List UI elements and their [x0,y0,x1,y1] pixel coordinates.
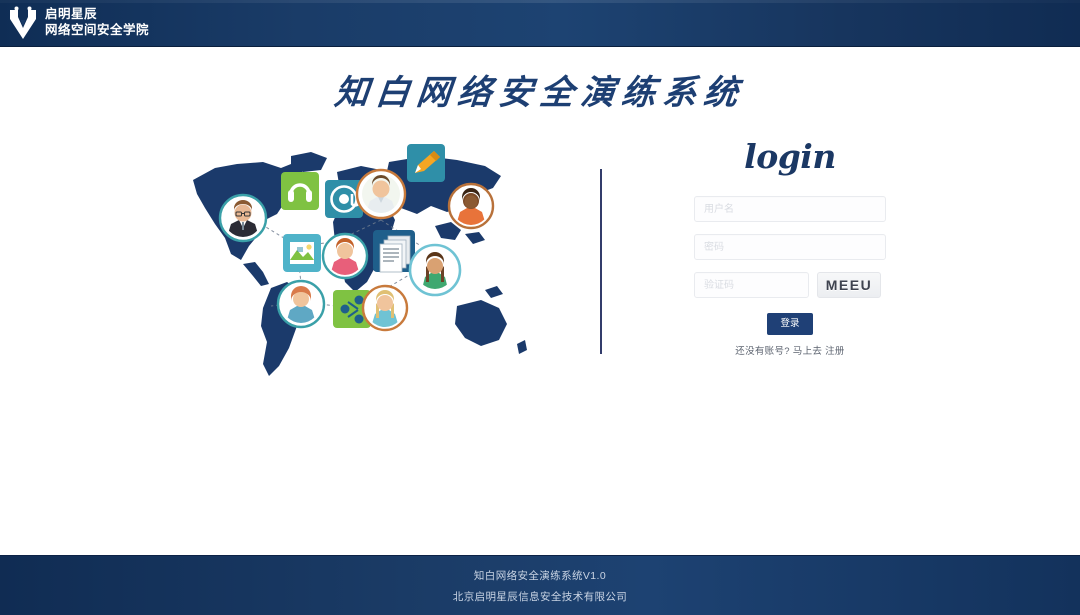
vertical-divider [600,169,602,354]
username-input[interactable] [694,196,886,222]
register-link[interactable]: 还没有账号? 马上去 注册 [660,343,920,357]
app-header: 启明星辰 网络空间安全学院 [0,0,1080,47]
brand-logo[interactable]: 启明星辰 网络空间安全学院 [0,6,149,40]
brand-subtitle: 网络空间安全学院 [45,24,149,38]
photo-image-icon-tile [283,234,321,272]
brand-name: 启明星辰 [45,8,149,22]
documents-icon-tile [373,230,415,272]
qiming-star-v-logo-icon [8,6,38,40]
footer-company: 北京启明星辰信息安全技术有限公司 [453,589,627,604]
app-footer: 知白网络安全演练系统V1.0 北京启明星辰信息安全技术有限公司 [0,555,1080,615]
captcha-row: MEEU [694,272,886,298]
captcha-input[interactable] [694,272,809,298]
header-gloss [0,0,1080,3]
login-submit-button[interactable]: 登录 [767,313,813,335]
avatar-woman-pink [323,234,367,278]
login-panel: login MEEU 登录 还没有账号? 马上去 注册 [660,137,920,357]
avatar-girl-blonde [363,286,407,330]
avatar-businessman [220,195,266,241]
headset-icon-tile [281,172,319,210]
captcha-image[interactable]: MEEU [817,272,881,298]
avatar-woman-orange [449,184,493,228]
page-title: 知白网络安全演练系统 [0,65,1080,114]
avatar-woman-green [410,245,460,295]
avatar-woman-teal [278,281,324,327]
footer-system-version: 知白网络安全演练系统V1.0 [474,568,606,583]
brand-text-block: 启明星辰 网络空间安全学院 [45,8,149,38]
pencil-edit-icon-tile [407,144,445,182]
world-map-illustration [185,142,530,402]
avatar-young-man [357,170,405,218]
password-input[interactable] [694,234,886,260]
main-stage: 知白网络安全演练系统 [0,47,1080,555]
login-heading: login [660,137,920,176]
